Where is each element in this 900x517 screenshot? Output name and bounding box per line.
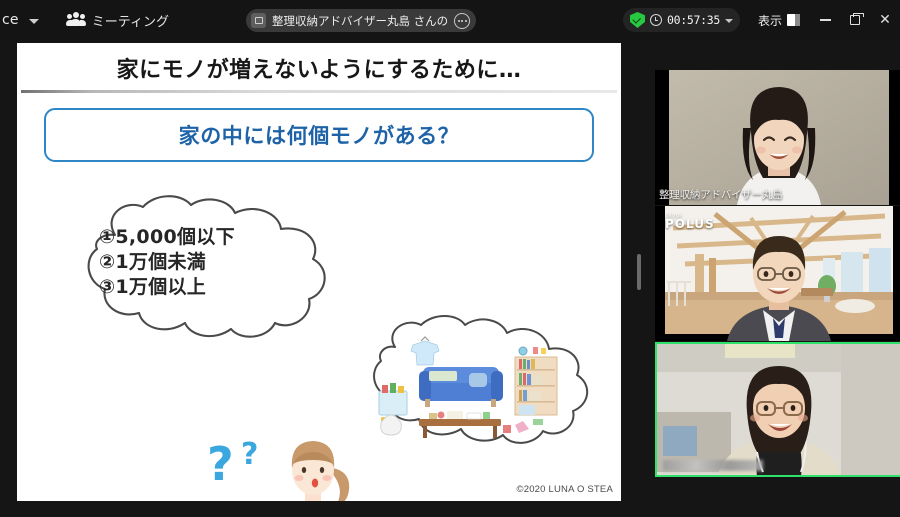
sofa-icon: [419, 367, 503, 407]
video-rail: 整理収納アドバイザー丸島: [655, 70, 900, 477]
video-tile[interactable]: GROUP POLUS: [655, 206, 900, 341]
screen-share-label: 整理収納アドバイザー丸島 さんの: [272, 13, 448, 29]
screen-share-icon: [251, 13, 266, 28]
minimize-button[interactable]: [810, 0, 840, 40]
people-icon: [67, 12, 85, 28]
video-tile[interactable]: 整理収納アドバイザー丸島: [655, 70, 900, 205]
options-list: ①5,000個以下 ②1万個未満 ③1万個以上: [99, 225, 235, 300]
close-button[interactable]: ✕: [870, 0, 900, 40]
close-icon: ✕: [879, 13, 891, 27]
chevron-down-icon[interactable]: [29, 19, 39, 24]
more-options-icon[interactable]: [454, 13, 470, 29]
copyright-text: ©2020 LUNA O STEA: [517, 484, 613, 495]
meeting-timer[interactable]: 00:57:35: [623, 8, 740, 32]
view-button[interactable]: 表示: [758, 12, 800, 29]
screen-share-banner[interactable]: 整理収納アドバイザー丸島 さんの: [246, 9, 476, 32]
room-thought-cloud: [351, 313, 596, 453]
restore-icon: [850, 15, 860, 25]
polus-watermark: GROUP POLUS: [665, 214, 715, 230]
participant-video: [655, 342, 900, 477]
view-button-label: 表示: [758, 12, 782, 29]
clock-icon: [650, 14, 662, 26]
character-illustration: [269, 428, 361, 501]
svg-text:?: ?: [207, 437, 234, 491]
layout-icon: [787, 14, 800, 26]
list-item: ③1万個以上: [99, 275, 235, 300]
titlebar-right-group: 00:57:35 表示 ✕: [623, 0, 900, 40]
chevron-down-icon[interactable]: [725, 19, 733, 23]
drag-handle-icon[interactable]: [637, 254, 641, 290]
panel-divider[interactable]: [627, 43, 651, 501]
list-item: ②1万個未満: [99, 250, 235, 275]
shield-check-icon: [630, 12, 645, 28]
participant-name: 整理収納アドバイザー丸島: [659, 187, 783, 202]
title-divider-rule: [21, 90, 617, 93]
options-thought-cloud: ①5,000個以下 ②1万個未満 ③1万個以上: [63, 195, 363, 343]
titlebar-left-group: ce ミーティング: [0, 11, 169, 30]
timer-value: 00:57:35: [667, 13, 720, 27]
meeting-tab[interactable]: ミーティング: [67, 11, 169, 30]
titlebar: ce ミーティング 整理収納アドバイザー丸島 さんの 00:57:35: [0, 0, 900, 40]
question-text: 家の中には何個モノがある？: [179, 120, 460, 150]
room-illustration: [351, 313, 596, 453]
minimize-icon: [820, 19, 831, 21]
video-tile-active-speaker[interactable]: [655, 342, 900, 477]
app-name: ce: [2, 12, 19, 28]
polus-watermark-text: POLUS: [665, 217, 715, 231]
svg-text:?: ?: [241, 437, 258, 472]
slide-title: 家にモノが増えないようにするために…: [17, 43, 621, 84]
bookshelf-icon: [515, 347, 557, 415]
restore-button[interactable]: [840, 0, 870, 40]
meeting-window: ce ミーティング 整理収納アドバイザー丸島 さんの 00:57:35: [0, 0, 900, 517]
blurred-name-tag: [663, 460, 763, 471]
shared-slide[interactable]: 家にモノが増えないようにするために… 家の中には何個モノがある？ ①5,000個…: [17, 43, 621, 501]
meeting-tab-label: ミーティング: [92, 11, 169, 30]
question-box: 家の中には何個モノがある？: [44, 108, 594, 162]
list-item: ①5,000個以下: [99, 225, 235, 250]
participant-video: [655, 70, 900, 205]
